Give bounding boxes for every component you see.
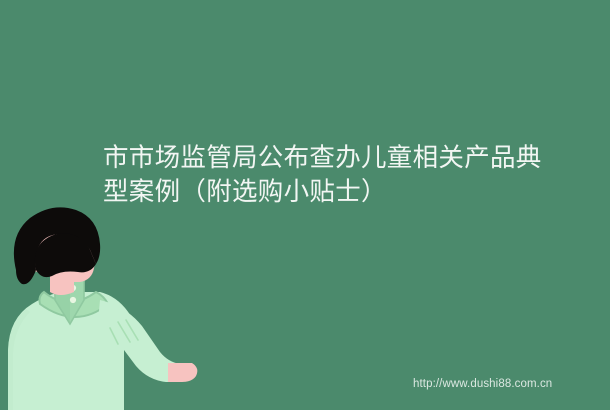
source-url-watermark: http://www.dushi88.com.cn bbox=[413, 378, 552, 390]
person-illustration bbox=[0, 200, 200, 410]
article-cover-banner: 市市场监管局公布查办儿童相关产品典型案例（附选购小贴士） http://www.… bbox=[0, 0, 610, 410]
page-title: 市市场监管局公布查办儿童相关产品典型案例（附选购小贴士） bbox=[103, 141, 548, 209]
hand bbox=[168, 363, 197, 382]
button-bottom bbox=[70, 297, 76, 303]
